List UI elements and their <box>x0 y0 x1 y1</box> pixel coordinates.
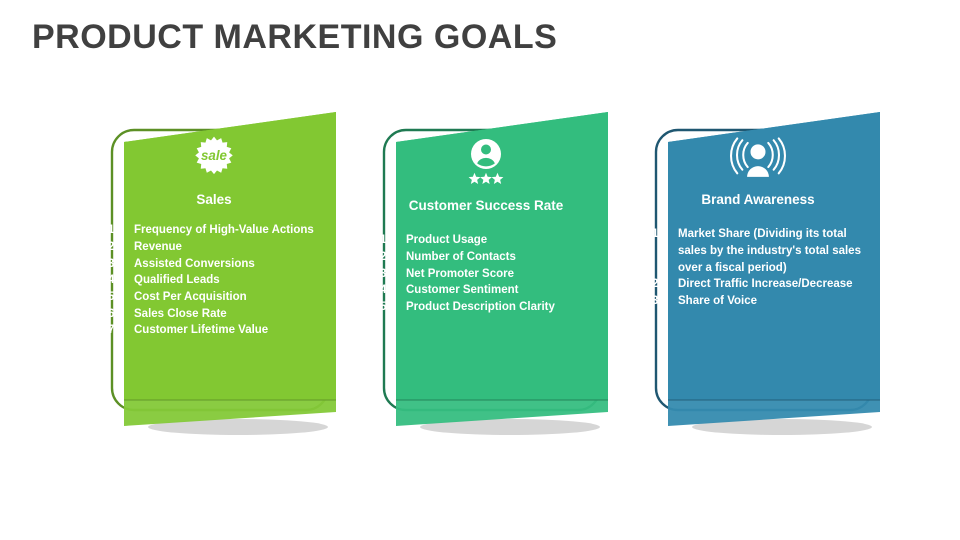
list-item-number: 3. <box>372 266 406 283</box>
list-item-label: Share of Voice <box>678 293 872 310</box>
list-item-label: Assisted Conversions <box>134 256 328 273</box>
list-item: 3.Net Promoter Score <box>372 266 600 283</box>
list-item: 7.Customer Lifetime Value <box>100 322 328 339</box>
sale-badge-icon: sale <box>185 134 243 184</box>
list-item-label: Market Share (Dividing its total sales b… <box>678 226 872 276</box>
list-item: 3.Share of Voice <box>644 293 872 310</box>
card-heading: Sales <box>124 191 304 208</box>
list-item-label: Product Description Clarity <box>406 299 600 316</box>
list-item-label: Revenue <box>134 239 328 256</box>
list-item-number: 2. <box>372 249 406 266</box>
list-item: 4.Qualified Leads <box>100 272 328 289</box>
card-metric-list: 1.Product Usage2.Number of Contacts3.Net… <box>372 232 600 315</box>
card-heading: Customer Success Rate <box>396 197 576 214</box>
list-item: 5.Product Description Clarity <box>372 299 600 316</box>
list-item-number: 2. <box>100 239 134 256</box>
list-item-label: Qualified Leads <box>134 272 328 289</box>
person-stars-icon <box>457 134 515 190</box>
list-item: 1.Frequency of High-Value Actions <box>100 222 328 239</box>
list-item-label: Customer Sentiment <box>406 282 600 299</box>
list-item-number: 3. <box>100 256 134 273</box>
list-item: 6.Sales Close Rate <box>100 306 328 323</box>
card-metric-list: 1.Frequency of High-Value Actions2.Reven… <box>100 222 328 339</box>
list-item: 5.Cost Per Acquisition <box>100 289 328 306</box>
card-metric-list: 1.Market Share (Dividing its total sales… <box>644 226 872 309</box>
list-item-label: Customer Lifetime Value <box>134 322 328 339</box>
list-item-number: 1. <box>100 222 134 239</box>
list-item-number: 4. <box>100 272 134 289</box>
list-item-number: 7. <box>100 322 134 339</box>
list-item-label: Number of Contacts <box>406 249 600 266</box>
list-item-label: Frequency of High-Value Actions <box>134 222 328 239</box>
list-item-label: Sales Close Rate <box>134 306 328 323</box>
list-item-label: Product Usage <box>406 232 600 249</box>
list-item: 4.Customer Sentiment <box>372 282 600 299</box>
list-item: 2.Direct Traffic Increase/Decrease <box>644 276 872 293</box>
card-content: Customer Success Rate1.Product Usage2.Nu… <box>372 128 600 418</box>
list-item: 1.Market Share (Dividing its total sales… <box>644 226 872 276</box>
goal-card-brand-awareness[interactable]: Brand Awareness1.Market Share (Dividing … <box>632 100 912 440</box>
goal-card-customer-success-rate[interactable]: Customer Success Rate1.Product Usage2.Nu… <box>360 100 640 440</box>
list-item: 2.Revenue <box>100 239 328 256</box>
list-item-label: Net Promoter Score <box>406 266 600 283</box>
list-item-label: Direct Traffic Increase/Decrease <box>678 276 872 293</box>
list-item: 2.Number of Contacts <box>372 249 600 266</box>
card-heading: Brand Awareness <box>668 191 848 208</box>
list-item-number: 6. <box>100 306 134 323</box>
list-item-number: 3. <box>644 293 678 310</box>
list-item-number: 5. <box>100 289 134 306</box>
list-item-number: 1. <box>372 232 406 249</box>
goal-card-sales[interactable]: saleSales1.Frequency of High-Value Actio… <box>88 100 368 440</box>
broadcast-person-icon <box>729 134 787 184</box>
list-item-number: 4. <box>372 282 406 299</box>
page-title: PRODUCT MARKETING GOALS <box>32 18 557 57</box>
list-item: 3.Assisted Conversions <box>100 256 328 273</box>
list-item-label: Cost Per Acquisition <box>134 289 328 306</box>
list-item-number: 2. <box>644 276 678 293</box>
card-content: Brand Awareness1.Market Share (Dividing … <box>644 128 872 418</box>
goal-cards-row: saleSales1.Frequency of High-Value Actio… <box>0 100 960 440</box>
list-item: 1.Product Usage <box>372 232 600 249</box>
list-item-number: 5. <box>372 299 406 316</box>
sale-badge-label: sale <box>201 148 228 163</box>
card-content: saleSales1.Frequency of High-Value Actio… <box>100 128 328 418</box>
list-item-number: 1. <box>644 226 678 276</box>
